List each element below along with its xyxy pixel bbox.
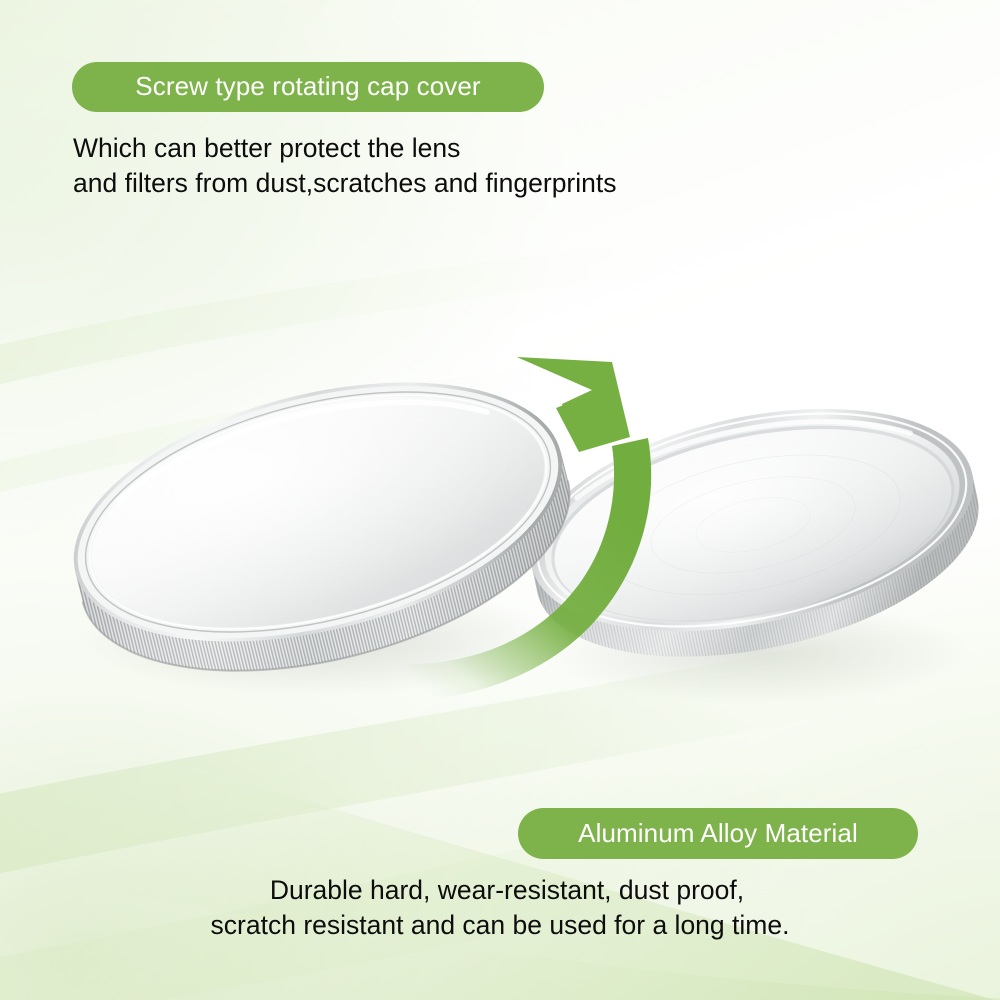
feature-badge-label: Aluminum Alloy Material (578, 818, 858, 849)
feature-badge-label: Screw type rotating cap cover (135, 71, 480, 102)
feature-description-bottom: Durable hard, wear-resistant, dust proof… (0, 873, 1000, 943)
description-line: scratch resistant and can be used for a … (0, 908, 1000, 943)
feature-badge-aluminum-alloy: Aluminum Alloy Material (518, 808, 918, 859)
feature-description-top: Which can better protect the lens and fi… (73, 131, 617, 201)
description-line: and filters from dust,scratches and fing… (73, 166, 617, 201)
infographic-canvas: Screw type rotating cap cover Which can … (0, 0, 1000, 1000)
feature-badge-screw-type: Screw type rotating cap cover (72, 62, 544, 112)
description-line: Durable hard, wear-resistant, dust proof… (0, 873, 1000, 908)
description-line: Which can better protect the lens (73, 131, 617, 166)
